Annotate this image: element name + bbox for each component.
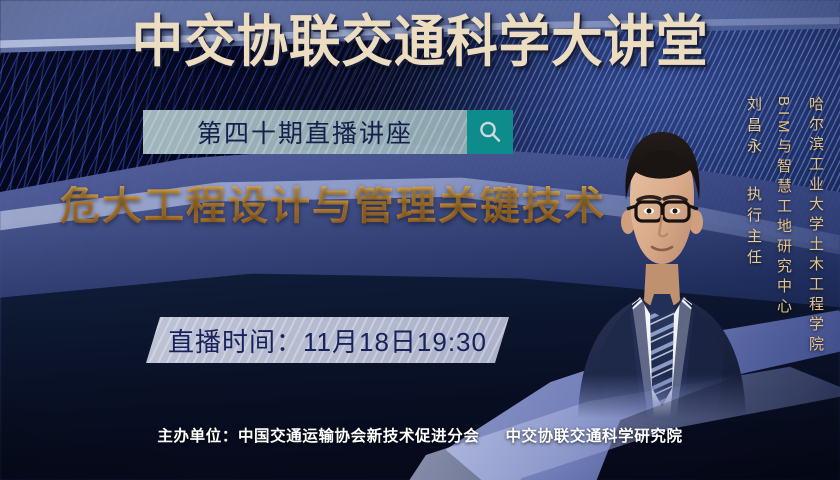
speaker-research-center: BIM与智慧工地研究中心: [773, 96, 796, 318]
live-time-badge: 直播时间：11月18日19:30: [146, 317, 509, 363]
page-title: 中交协联交通科学大讲堂: [34, 14, 807, 70]
speaker-name: 刘昌永: [743, 96, 764, 159]
research-center-acronym: BIM: [775, 96, 792, 138]
footer-prefix: 主办单位：: [157, 428, 238, 445]
footer-organizer-2: 中交协联交通科学研究院: [505, 428, 682, 445]
research-center-name: 与智慧工地研究中心: [775, 138, 792, 318]
footer-organizers: 主办单位：中国交通运输协会新技术促进分会中交协联交通科学研究院: [0, 424, 840, 446]
footer-organizer-1: 中国交通运输协会新技术促进分会: [238, 428, 480, 445]
topic-title: 危大工程设计与管理关键技术: [60, 186, 606, 226]
live-lecture-poster: 中交协联交通科学大讲堂 第四十期直播讲座 危大工程设计与管理关键技术 直播时间：…: [0, 0, 840, 480]
session-bar: 第四十期直播讲座: [143, 110, 513, 154]
search-icon[interactable]: [467, 110, 513, 154]
speaker-affiliation: 哈尔滨工业大学土木工程学院: [805, 96, 826, 356]
speaker-role: 执行主任: [743, 186, 764, 270]
session-label: 第四十期直播讲座: [143, 110, 467, 154]
